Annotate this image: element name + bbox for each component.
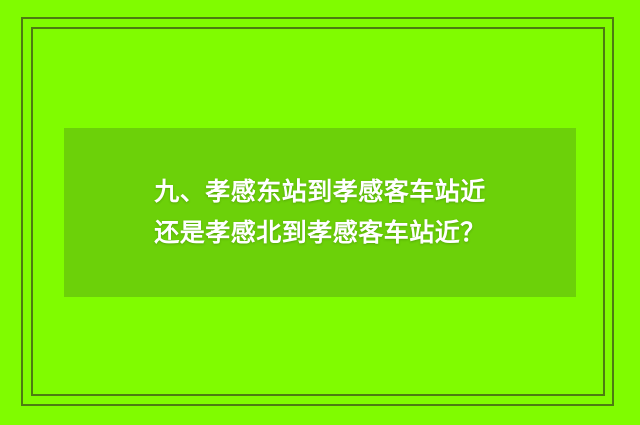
headline-text: 九、孝感东站到孝感客车站近 还是孝感北到孝感客车站近？ [154,172,486,254]
headline-line-1: 九、孝感东站到孝感客车站近 [154,172,486,213]
headline-line-2: 还是孝感北到孝感客车站近？ [154,213,486,254]
poster-canvas: 九、孝感东站到孝感客车站近 还是孝感北到孝感客车站近？ [0,0,640,425]
headline-panel: 九、孝感东站到孝感客车站近 还是孝感北到孝感客车站近？ [64,128,576,297]
